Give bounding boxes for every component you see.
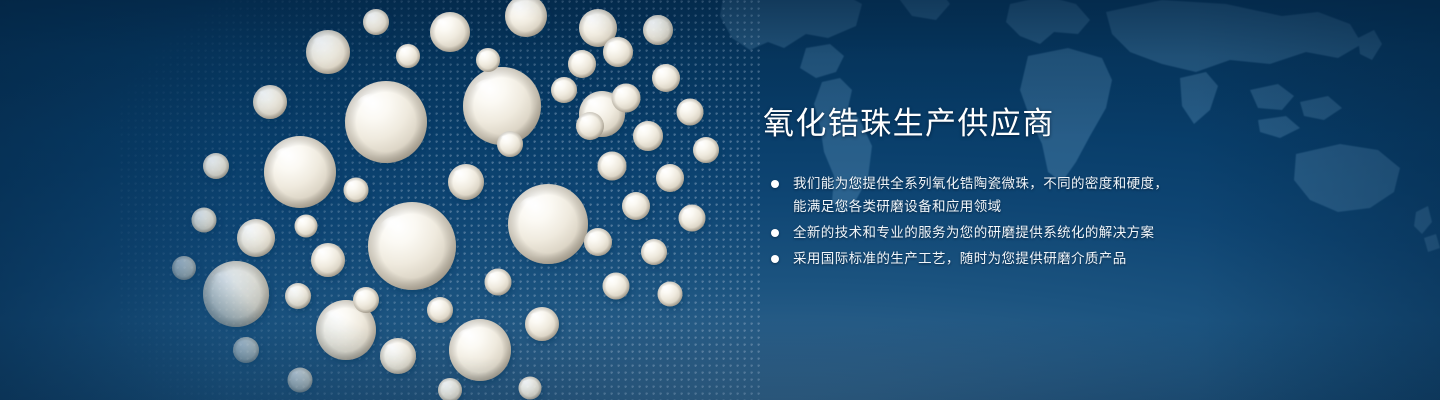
- bullet-dot-icon: [771, 180, 779, 188]
- list-item-line: 能满足您各类研磨设备和应用领域: [793, 195, 1233, 218]
- hero-banner: 氧化锆珠生产供应商 我们能为您提供全系列氧化锆陶瓷微珠，不同的密度和硬度， 能满…: [0, 0, 1440, 400]
- list-item: 我们能为您提供全系列氧化锆陶瓷微珠，不同的密度和硬度， 能满足您各类研磨设备和应…: [763, 172, 1233, 218]
- feature-list: 我们能为您提供全系列氧化锆陶瓷微珠，不同的密度和硬度， 能满足您各类研磨设备和应…: [763, 172, 1233, 270]
- bullet-dot-icon: [771, 255, 779, 263]
- bullet-dot-icon: [771, 229, 779, 237]
- list-item-line: 全新的技术和专业的服务为您的研磨提供系统化的解决方案: [793, 221, 1233, 244]
- list-item: 全新的技术和专业的服务为您的研磨提供系统化的解决方案: [763, 221, 1233, 244]
- page-title: 氧化锆珠生产供应商: [763, 104, 1233, 144]
- list-item-line: 我们能为您提供全系列氧化锆陶瓷微珠，不同的密度和硬度，: [793, 172, 1233, 195]
- list-item-line: 采用国际标准的生产工艺，随时为您提供研磨介质产品: [793, 247, 1233, 270]
- banner-copy: 氧化锆珠生产供应商 我们能为您提供全系列氧化锆陶瓷微珠，不同的密度和硬度， 能满…: [763, 104, 1233, 273]
- list-item: 采用国际标准的生产工艺，随时为您提供研磨介质产品: [763, 247, 1233, 270]
